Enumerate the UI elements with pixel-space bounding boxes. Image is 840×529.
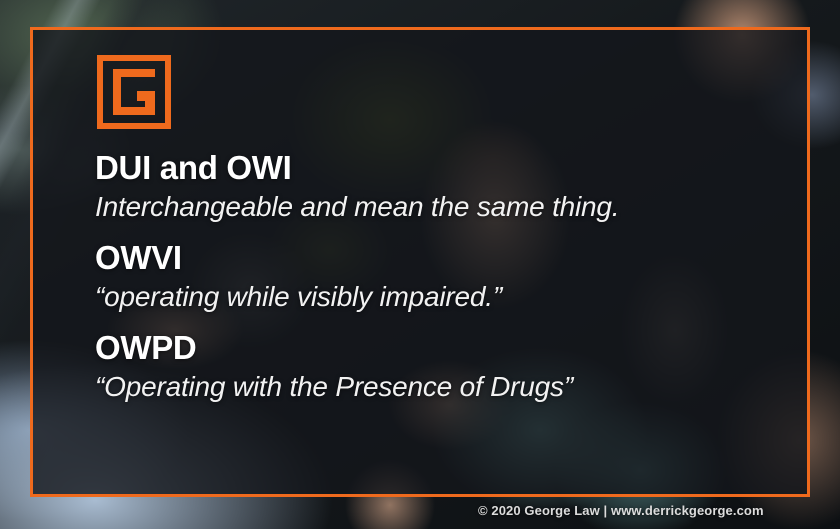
term-definition: “operating while visibly impaired.” (95, 280, 735, 314)
term-block: DUI and OWI Interchangeable and mean the… (95, 150, 735, 223)
term-heading: DUI and OWI (95, 150, 735, 186)
term-block: OWVI “operating while visibly impaired.” (95, 240, 735, 313)
copyright-credit: © 2020 George Law | www.derrickgeorge.co… (478, 503, 764, 518)
term-heading: OWPD (95, 330, 735, 366)
george-law-logo (97, 55, 171, 129)
term-heading: OWVI (95, 240, 735, 276)
terms-list: DUI and OWI Interchangeable and mean the… (95, 150, 735, 421)
term-definition: “Operating with the Presence of Drugs” (95, 370, 735, 404)
graphic-canvas: DUI and OWI Interchangeable and mean the… (0, 0, 840, 529)
term-definition: Interchangeable and mean the same thing. (95, 190, 735, 224)
term-block: OWPD “Operating with the Presence of Dru… (95, 330, 735, 403)
